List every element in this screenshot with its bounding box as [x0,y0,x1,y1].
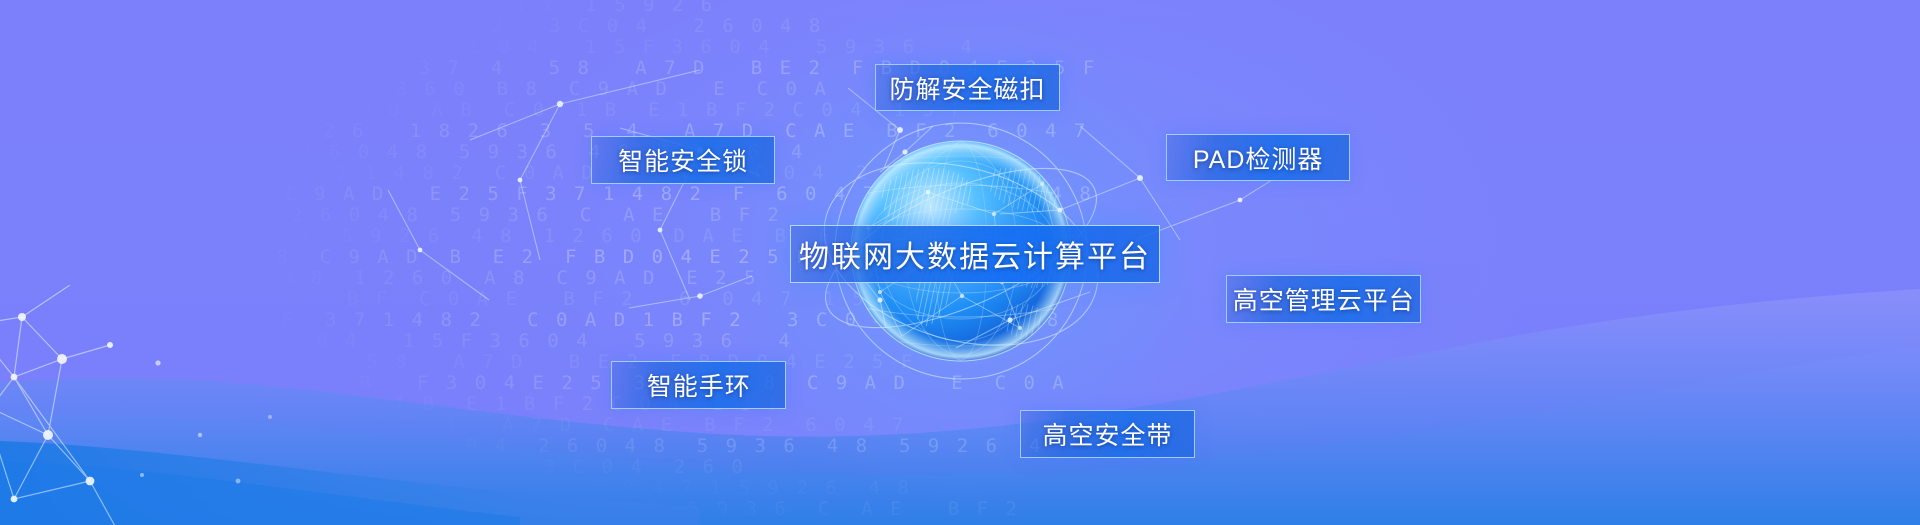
node-label-text: 智能安全锁 [618,142,748,178]
node-label-text: 智能手环 [647,367,751,403]
node-label-text: 防解安全磁扣 [889,70,1045,106]
iot-platform-banner: 2 F A 8 1 C 9 D B F C 0 A E B F 2 6 0 4 … [0,0,1920,525]
node-label-text: PAD检测器 [1193,140,1324,176]
node-label-smart-wristband[interactable]: 智能手环 [611,361,786,409]
node-label-smart-security-lock[interactable]: 智能安全锁 [591,136,775,184]
center-platform-label-text: 物联网大数据云计算平台 [799,232,1151,276]
node-label-pad-detector[interactable]: PAD检测器 [1166,134,1350,182]
node-label-text: 高空安全带 [1042,416,1172,452]
center-platform-label[interactable]: 物联网大数据云计算平台 [790,225,1160,283]
node-label-aerial-safety-belt[interactable]: 高空安全带 [1020,410,1195,458]
node-label-text: 高空管理云平台 [1233,281,1415,317]
node-label-anti-tamper-magnetic-buckle[interactable]: 防解安全磁扣 [875,64,1060,112]
node-label-aerial-management-cloud[interactable]: 高空管理云平台 [1226,275,1421,323]
